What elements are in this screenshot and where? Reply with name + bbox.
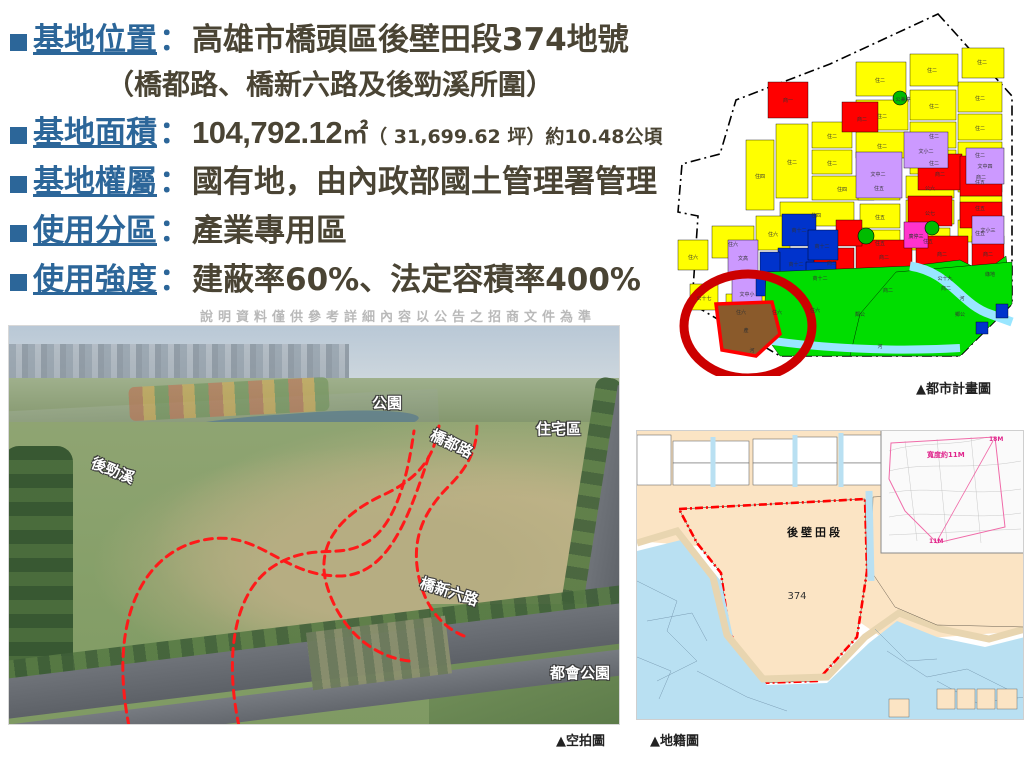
- svg-text:商二: 商二: [827, 260, 837, 267]
- svg-text:住二: 住二: [875, 77, 885, 84]
- svg-text:住六: 住六: [688, 254, 698, 261]
- info-value-ownership: 國有地，由內政部國土管理署管理: [192, 156, 657, 201]
- svg-text:商一: 商一: [783, 97, 793, 104]
- info-colon: ：: [157, 107, 192, 152]
- svg-text:商十二: 商十二: [812, 275, 827, 282]
- info-label-zoning: 使用分區: [33, 205, 157, 250]
- svg-text:住六: 住六: [768, 231, 778, 238]
- svg-text:住二: 住二: [787, 159, 797, 166]
- bullet-square-icon: [10, 34, 27, 51]
- svg-text:寬度約11M: 寬度約11M: [926, 450, 965, 459]
- info-row-intensity: 使用強度 ： 建蔽率60%、法定容積率400%: [10, 254, 710, 299]
- info-label-area: 基地面積: [33, 107, 157, 152]
- info-row-location-sub: （橋都路、橋新六路及後勁溪所圍）: [10, 63, 710, 103]
- svg-text:住六: 住六: [736, 309, 746, 316]
- svg-text:廣停三: 廣停三: [908, 233, 923, 240]
- info-row-location: 基地位置 ： 高雄市橋頭區後壁田段374地號: [10, 14, 710, 59]
- svg-text:文中四: 文中四: [977, 163, 992, 170]
- svg-text:公十七: 公十七: [696, 295, 711, 302]
- svg-text:商二: 商二: [857, 116, 867, 123]
- urban-plan-map: 住二住二住二 住二住二住二 住二住二 住二住二 住二住二住二 住二住四 住四住四…: [660, 4, 1024, 376]
- svg-text:公六: 公六: [925, 185, 935, 192]
- info-row-ownership: 基地權屬 ： 國有地，由內政部國土管理署管理: [10, 156, 710, 201]
- svg-text:住二: 住二: [827, 160, 837, 167]
- svg-text:公十九: 公十九: [937, 275, 952, 282]
- svg-text:商二: 商二: [941, 285, 951, 292]
- svg-text:商二: 商二: [935, 171, 945, 178]
- svg-text:住二: 住二: [877, 113, 887, 120]
- svg-text:公兼停: 公兼停: [895, 96, 910, 103]
- aerial-caption: ▲空拍圖: [556, 730, 605, 749]
- svg-text:產: 產: [743, 327, 748, 334]
- svg-text:鄰公: 鄰公: [855, 311, 865, 318]
- info-row-zoning: 使用分區 ： 產業專用區: [10, 205, 710, 250]
- svg-text:河: 河: [959, 295, 964, 302]
- info-colon: ：: [157, 156, 192, 201]
- svg-text:住二: 住二: [827, 133, 837, 140]
- info-row-area: 基地面積 ： 104,792.12 ㎡ （ 31,699.62 坪）約10.48…: [10, 107, 710, 152]
- svg-text:文中二: 文中二: [870, 171, 885, 178]
- svg-text:住二: 住二: [975, 125, 985, 132]
- cadastral-caption: ▲地籍圖: [650, 730, 699, 749]
- slide-canvas: 基地位置 ： 高雄市橋頭區後壁田段374地號 （橋都路、橋新六路及後勁溪所圍） …: [0, 0, 1024, 768]
- svg-text:綠地: 綠地: [985, 271, 995, 278]
- svg-text:住二: 住二: [975, 152, 985, 159]
- svg-text:商十二: 商十二: [788, 261, 803, 268]
- svg-text:住五: 住五: [975, 205, 985, 212]
- urban-plan-caption: ▲都市計畫圖: [916, 378, 991, 397]
- svg-text:住六: 住六: [772, 309, 782, 316]
- photo-label-park: 公園: [372, 392, 402, 413]
- bullet-square-icon: [10, 274, 27, 291]
- svg-text:住四: 住四: [837, 186, 847, 193]
- svg-text:住五: 住五: [923, 238, 933, 245]
- svg-text:文中小: 文中小: [739, 291, 754, 298]
- disclaimer-text: 說明資料僅供參考詳細內容以公告之招商文件為準: [200, 306, 700, 325]
- svg-text:住二: 住二: [977, 59, 987, 66]
- svg-text:住二: 住二: [975, 95, 985, 102]
- svg-text:商十二: 商十二: [814, 243, 829, 250]
- svg-text:住五: 住五: [875, 214, 885, 221]
- bullet-square-icon: [10, 127, 27, 144]
- info-colon: ：: [157, 205, 192, 250]
- svg-text:商二: 商二: [937, 251, 947, 258]
- svg-text:河: 河: [877, 343, 882, 350]
- photo-trees-left: [8, 446, 73, 686]
- bullet-square-icon: [10, 225, 27, 242]
- svg-text:商十二: 商十二: [791, 227, 806, 234]
- svg-text:住二: 住二: [929, 103, 939, 110]
- svg-text:住六: 住六: [728, 241, 738, 248]
- svg-text:住二: 住二: [927, 67, 937, 74]
- info-value-area-extra: （ 31,699.62 坪）約10.48公頃: [368, 122, 662, 149]
- svg-text:11M: 11M: [929, 538, 943, 545]
- svg-text:文小二: 文小二: [918, 148, 933, 155]
- photo-label-metropolitan-park: 都會公園: [550, 662, 610, 683]
- info-value-intensity: 建蔽率60%、法定容積率400%: [192, 254, 641, 299]
- svg-text:住四: 住四: [811, 212, 821, 219]
- svg-text:鄉公: 鄉公: [955, 311, 965, 318]
- info-value-zoning: 產業專用區: [192, 205, 347, 250]
- svg-text:住六: 住六: [810, 307, 820, 314]
- svg-text:商二: 商二: [983, 251, 993, 258]
- svg-text:住四: 住四: [755, 173, 765, 180]
- svg-text:住二: 住二: [929, 160, 939, 167]
- svg-text:商二: 商二: [883, 287, 893, 294]
- svg-text:商二: 商二: [879, 254, 889, 261]
- svg-text:公七: 公七: [925, 210, 935, 217]
- svg-text:住五: 住五: [874, 185, 884, 192]
- info-label-intensity: 使用強度: [33, 254, 157, 299]
- info-label-ownership: 基地權屬: [33, 156, 157, 201]
- cad-parcel-number: 374: [787, 591, 806, 602]
- svg-text:商二: 商二: [976, 174, 986, 181]
- bullet-square-icon: [10, 176, 27, 193]
- info-value-area: 104,792.12: [192, 115, 342, 151]
- photo-label-residential: 住宅區: [536, 418, 581, 439]
- info-colon: ：: [157, 14, 192, 59]
- info-value-location: 高雄市橋頭區後壁田段374地號: [192, 14, 629, 59]
- info-label-location: 基地位置: [33, 14, 157, 59]
- svg-text:住二: 住二: [877, 143, 887, 150]
- svg-text:河: 河: [749, 347, 754, 354]
- site-info-list: 基地位置 ： 高雄市橋頭區後壁田段374地號 （橋都路、橋新六路及後勁溪所圍） …: [10, 14, 710, 303]
- svg-text:住五: 住五: [875, 240, 885, 247]
- svg-text:住二: 住二: [929, 133, 939, 140]
- svg-text:文小三: 文小三: [980, 227, 995, 234]
- svg-text:文高: 文高: [738, 255, 748, 262]
- cad-section-label: 後壁田段: [787, 525, 843, 539]
- aerial-photo: [8, 325, 620, 725]
- info-colon: ：: [157, 254, 192, 299]
- svg-text:18M: 18M: [989, 436, 1003, 443]
- cadastral-map: 寬度約11M 18M 11M 後壁田段 374: [636, 430, 1024, 720]
- info-unit-square-meter: ㎡: [342, 114, 368, 151]
- info-value-location-sub: （橋都路、橋新六路及後勁溪所圍）: [106, 63, 554, 103]
